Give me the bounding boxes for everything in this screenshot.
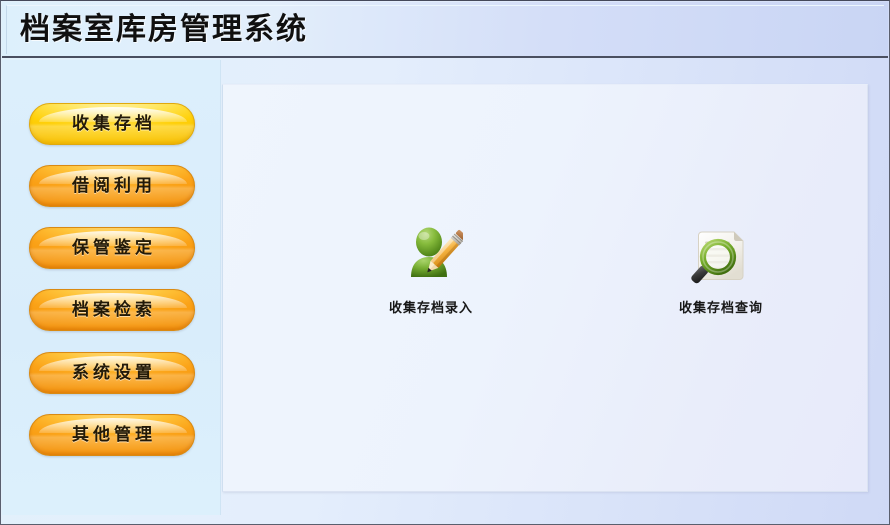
body-area: 收集存档 借阅利用 保管鉴定 档案检索 系统设置 其他管理 [2,60,888,523]
icon-label: 收集存档录入 [371,297,491,316]
icon-grid: 收集存档录入 [223,225,867,316]
title-bar: 档案室库房管理系统 [2,2,888,58]
icon-collect-archive-query[interactable]: 收集存档查询 [661,225,781,316]
sidebar-item-label: 借阅利用 [30,166,194,206]
application-window: 档案室库房管理系统 收集存档 借阅利用 保管鉴定 档案检索 系统设置 其他管理 [0,0,890,525]
content-panel: 收集存档录入 [222,84,868,492]
sidebar-item-system-settings[interactable]: 系统设置 [29,352,195,394]
sidebar-item-custody-appraisal[interactable]: 保管鉴定 [29,227,195,269]
sidebar: 收集存档 借阅利用 保管鉴定 档案检索 系统设置 其他管理 [2,60,221,515]
sidebar-item-label: 档案检索 [30,290,194,330]
sidebar-item-other-management[interactable]: 其他管理 [29,414,195,456]
icon-label: 收集存档查询 [661,297,781,316]
sidebar-item-label: 其他管理 [30,415,194,455]
page-title: 档案室库房管理系统 [20,8,308,52]
sidebar-item-label: 保管鉴定 [30,228,194,268]
sidebar-item-borrow-use[interactable]: 借阅利用 [29,165,195,207]
document-magnifier-icon [689,225,753,289]
icon-collect-archive-entry[interactable]: 收集存档录入 [371,225,491,316]
sidebar-item-label: 收集存档 [30,104,194,144]
sidebar-item-collect-archive[interactable]: 收集存档 [29,103,195,145]
person-pencil-icon [399,225,463,289]
sidebar-item-archive-search[interactable]: 档案检索 [29,289,195,331]
sidebar-item-label: 系统设置 [30,353,194,393]
